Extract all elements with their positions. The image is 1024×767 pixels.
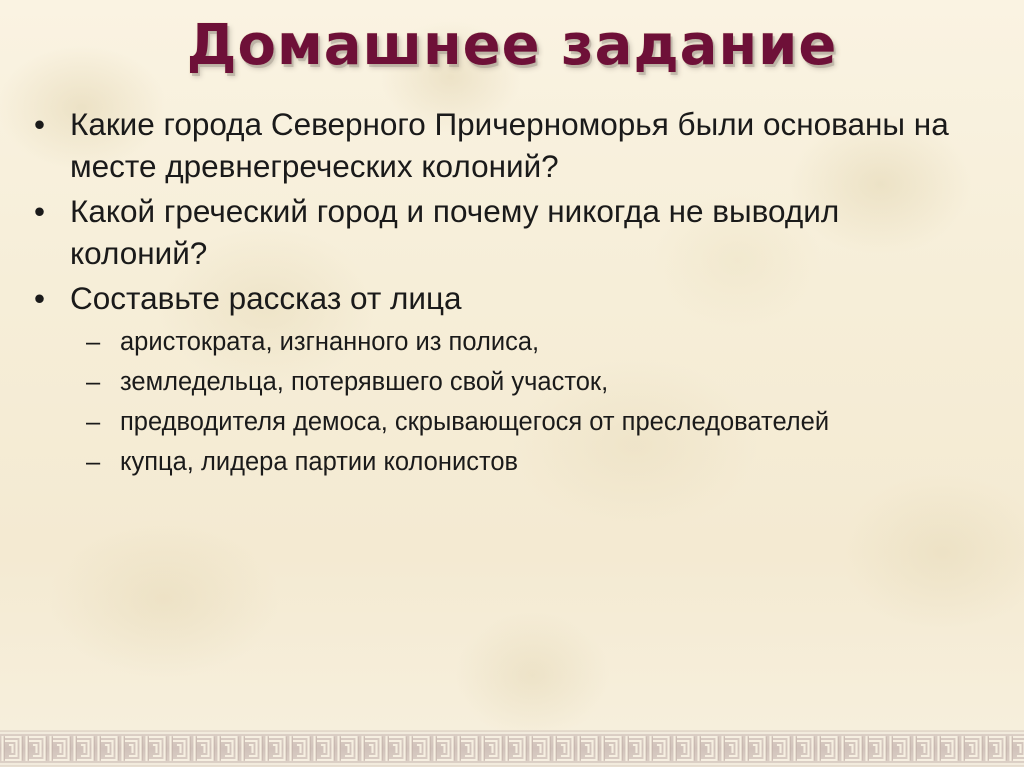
sub-list-item: – предводителя демоса, скрывающегося от …: [22, 406, 880, 439]
sub-list-item: – земледельца, потерявшего свой участок,: [22, 366, 880, 399]
slide: Домашнее задание • Какие города Северног…: [0, 0, 1024, 767]
sub-list-item-text: аристократа, изгнанного из полиса,: [120, 328, 539, 356]
bullet-marker-icon: •: [34, 104, 45, 146]
list-item-text: Какие города Северного Причерноморья был…: [70, 106, 949, 184]
list-item: • Какие города Северного Причерноморья б…: [22, 104, 982, 187]
dash-marker-icon: –: [86, 366, 100, 399]
list-item-text: Какой греческий город и почему никогда н…: [70, 193, 839, 271]
greek-key-border: [0, 730, 1024, 767]
border-top-rule: [0, 732, 1024, 734]
sub-list-item: – купца, лидера партии колонистов: [22, 446, 880, 479]
bullet-marker-icon: •: [34, 191, 45, 233]
list-item-text: Составьте рассказ от лица: [70, 280, 462, 316]
list-item: • Какой греческий город и почему никогда…: [22, 191, 982, 274]
dash-marker-icon: –: [86, 406, 100, 439]
meander-pattern-icon: [0, 733, 1024, 764]
sub-list-item-text: предводителя демоса, скрывающегося от пр…: [120, 408, 829, 436]
dash-marker-icon: –: [86, 326, 100, 359]
bullet-list: • Какие города Северного Причерноморья б…: [22, 104, 982, 486]
list-item: • Составьте рассказ от лица: [22, 278, 982, 320]
border-bottom-rule: [0, 763, 1024, 765]
page-title: Домашнее задание: [187, 18, 838, 74]
dash-marker-icon: –: [86, 446, 100, 479]
bullet-marker-icon: •: [34, 278, 45, 320]
sub-list-item-text: земледельца, потерявшего свой участок,: [120, 368, 608, 396]
sub-list-item: – аристократа, изгнанного из полиса,: [22, 326, 880, 359]
sub-list-item-text: купца, лидера партии колонистов: [120, 448, 518, 476]
slide-title-container: Домашнее задание: [0, 18, 1024, 74]
sub-list: – аристократа, изгнанного из полиса, – з…: [22, 326, 982, 480]
